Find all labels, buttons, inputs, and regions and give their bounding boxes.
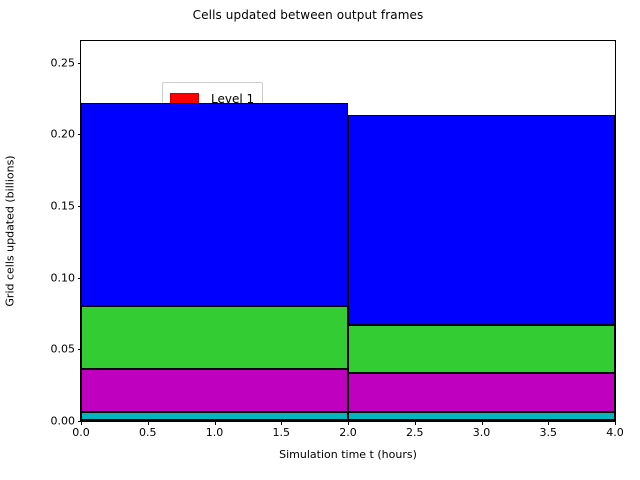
bar-segment bbox=[348, 412, 615, 420]
x-axis-tick-mark bbox=[215, 421, 216, 425]
x-axis-tick-mark bbox=[482, 421, 483, 425]
x-axis-tick-label: 0.0 bbox=[72, 427, 90, 438]
y-axis-tick-mark bbox=[78, 63, 82, 64]
x-axis-tick-label: 3.5 bbox=[540, 427, 558, 438]
chart-title: Cells updated between output frames bbox=[0, 7, 640, 23]
bar-segment bbox=[348, 373, 615, 412]
x-axis-tick-label: 2.5 bbox=[406, 427, 424, 438]
bar-segment bbox=[348, 420, 615, 421]
plot-axes: Level 1Level 2Level 3Level 4Level 5 0.00… bbox=[80, 40, 616, 422]
y-axis-tick-label: 0.20 bbox=[51, 129, 76, 140]
x-axis-tick-mark bbox=[415, 421, 416, 425]
x-axis-tick-mark bbox=[281, 421, 282, 425]
x-axis-tick-label: 2.0 bbox=[339, 427, 357, 438]
bar-segment bbox=[81, 103, 348, 306]
y-axis-tick-label: 0.00 bbox=[51, 416, 76, 427]
bar-segment bbox=[81, 369, 348, 412]
x-axis-tick-mark bbox=[148, 421, 149, 425]
bar-segment bbox=[348, 325, 615, 373]
x-axis-tick-label: 3.0 bbox=[473, 427, 491, 438]
bar-segment bbox=[81, 420, 348, 421]
x-axis-tick-mark bbox=[348, 421, 349, 425]
y-axis-label: Grid cells updated (billions) bbox=[4, 155, 17, 306]
y-axis-tick-label: 0.10 bbox=[51, 272, 76, 283]
bar-segment bbox=[348, 115, 615, 325]
x-axis-tick-mark bbox=[548, 421, 549, 425]
x-axis-tick-mark bbox=[81, 421, 82, 425]
bar-segment bbox=[81, 412, 348, 420]
x-axis-tick-label: 1.5 bbox=[273, 427, 291, 438]
x-axis-tick-label: 0.5 bbox=[139, 427, 157, 438]
y-axis-tick-label: 0.15 bbox=[51, 200, 76, 211]
y-axis-tick-label: 0.05 bbox=[51, 344, 76, 355]
bar-segment bbox=[81, 306, 348, 369]
x-axis-tick-label: 1.0 bbox=[206, 427, 224, 438]
figure-canvas: Cells updated between output frames Leve… bbox=[0, 0, 640, 480]
x-axis-label: Simulation time t (hours) bbox=[80, 448, 616, 461]
x-axis-tick-mark bbox=[615, 421, 616, 425]
x-axis-tick-label: 4.0 bbox=[606, 427, 624, 438]
y-axis-tick-label: 0.25 bbox=[51, 57, 76, 68]
